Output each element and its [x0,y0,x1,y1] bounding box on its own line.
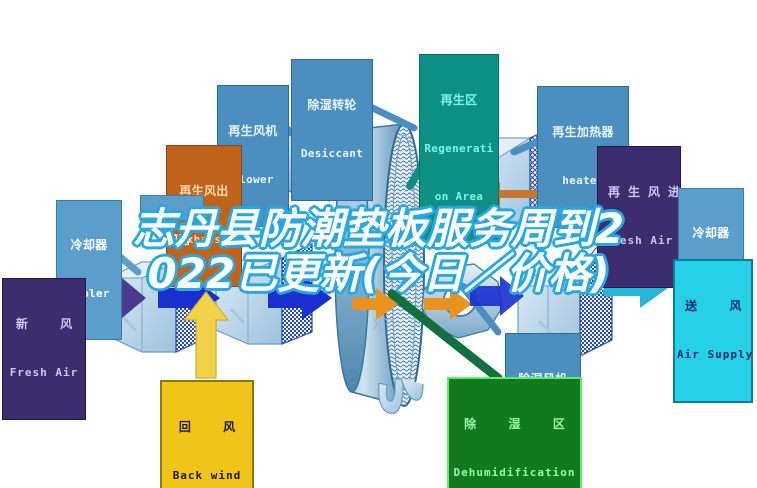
label-dehumidification-district-en1: Dehumidification [451,467,578,479]
label-fresh-air-inlet-cn: 新 风 [5,318,83,331]
label-back-wind-en: Back wind [164,470,250,482]
label-regeneration-fresh-air-in-cn: 再生风进 [600,186,678,199]
label-regeneration-blower-cn: 再生风机 [220,125,286,138]
label-back-wind: 回 风 Back wind [160,380,254,488]
label-regeneration-area-en2: on Area [422,191,496,203]
label-air-supply-cn: 送 风 [677,300,749,313]
label-dehumidification-district: 除 湿 区 Dehumidification District [447,377,582,488]
label-air-supply-en: Air Supply [677,349,749,361]
label-fresh-air-inlet-en: Fresh Air [5,367,83,379]
label-regeneration-fresh-air-in: 再生风进 Fresh Air [597,146,681,288]
label-cooler-mid: 冷却器 [140,195,204,221]
diagram-canvas: XT [0,0,757,488]
label-cooler-left-cn: 冷却器 [59,239,119,252]
label-desiccant-wheel-en: Desiccant [294,148,370,160]
label-desiccant-wheel: 除湿转轮 Desiccant [291,59,373,201]
label-back-wind-cn: 回 风 [164,421,250,434]
label-air-supply: 送 风 Air Supply [673,259,753,403]
label-cooler-mid-cn: 冷却器 [143,234,201,247]
label-regeneration-fresh-air-in-en: Fresh Air [600,235,678,247]
label-regeneration-heater-cn: 再生加热器 [540,126,626,139]
label-fresh-air-inlet: 新 风 Fresh Air [2,278,86,420]
label-dehumidification-district-cn: 除 湿 区 [451,418,578,431]
label-cooler-right-cn: 冷却器 [681,227,741,240]
label-regeneration-area: 再生区 Regenerati on Area [419,54,499,244]
label-regeneration-area-cn: 再生区 [422,94,496,107]
label-desiccant-wheel-cn: 除湿转轮 [294,99,370,112]
svg-text:XT: XT [372,315,393,334]
label-regeneration-area-en1: Regenerati [422,143,496,155]
